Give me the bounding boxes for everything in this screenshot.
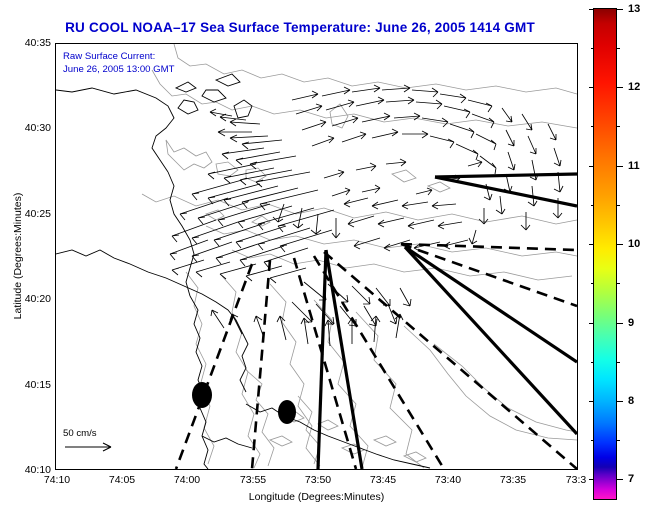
x-tick-label: 73:40 [435, 474, 461, 486]
map-vector-field [56, 44, 577, 469]
radar-station-marker [192, 382, 212, 408]
figure-title: RU COOL NOAA–17 Sea Surface Temperature:… [0, 20, 600, 35]
colorbar[interactable] [593, 8, 617, 500]
colorbar-tick-label: 10 [628, 238, 640, 250]
colorbar-tick-minor [591, 205, 594, 206]
vector-scale-label: 50 cm/s [63, 428, 123, 439]
x-tick-label: 73:55 [240, 474, 266, 486]
colorbar-tick-minor [591, 126, 594, 127]
colorbar-tick-minor [591, 440, 594, 441]
radar-coverage-solid [318, 174, 577, 469]
colorbar-tick [616, 166, 623, 167]
x-tick-label: 74:00 [174, 474, 200, 486]
colorbar-tick-minor [616, 126, 620, 127]
radar-station-marker [278, 400, 296, 424]
colorbar-tick-label: 12 [628, 81, 640, 93]
y-tick-label: 40:25 [25, 208, 51, 220]
y-tick-label: 40:20 [25, 293, 51, 305]
colorbar-tick-minor [616, 205, 620, 206]
colorbar-tick [589, 323, 594, 324]
vector-scale-arrow-icon [63, 439, 123, 455]
colorbar-tick-minor [616, 283, 620, 284]
colorbar-tick [589, 244, 594, 245]
colorbar-tick-label: 7 [628, 473, 634, 485]
colorbar-tick [589, 479, 594, 480]
y-tick-label: 40:35 [25, 37, 51, 49]
colorbar-tick-minor [616, 48, 620, 49]
x-tick-label: 73:45 [370, 474, 396, 486]
colorbar-tick [616, 401, 623, 402]
colorbar-tick-minor [616, 362, 620, 363]
radar-coverage-dashed [176, 244, 577, 469]
figure-canvas: RU COOL NOAA–17 Sea Surface Temperature:… [0, 0, 651, 515]
colorbar-tick-label: 11 [628, 160, 640, 172]
colorbar-tick [616, 323, 623, 324]
colorbar-tick [616, 244, 623, 245]
x-axis-label: Longitude (Degrees:Minutes) [55, 491, 578, 503]
colorbar-tick [616, 9, 623, 10]
colorbar-tick-minor [591, 283, 594, 284]
x-tick-label: 73:3 [566, 474, 586, 486]
colorbar-tick [589, 87, 594, 88]
colorbar-tick-label: 8 [628, 395, 634, 407]
map-clip [56, 44, 577, 469]
y-axis-label: Latitude (Degrees:Minutes) [12, 176, 24, 336]
x-tick-label: 73:35 [500, 474, 526, 486]
map-plot-area[interactable]: Raw Surface Current: June 26, 2005 13:00… [55, 43, 578, 470]
colorbar-tick-minor [616, 440, 620, 441]
y-axis-ticks: 40:35 40:30 40:25 40:20 40:15 40:10 [0, 0, 51, 515]
vector-scale-key: 50 cm/s [63, 428, 123, 460]
colorbar-tick [616, 479, 623, 480]
colorbar-tick-minor [591, 48, 594, 49]
colorbar-tick [589, 401, 594, 402]
x-tick-label: 73:50 [305, 474, 331, 486]
annotation-line-2: June 26, 2005 13:00 GMT [63, 63, 174, 76]
colorbar-tick [589, 9, 594, 10]
colorbar-tick-label: 13 [628, 3, 640, 15]
annotation-line-1: Raw Surface Current: [63, 50, 174, 63]
colorbar-tick [589, 166, 594, 167]
colorbar-tick [616, 87, 623, 88]
x-tick-label: 74:05 [109, 474, 135, 486]
colorbar-gradient [594, 9, 616, 499]
y-tick-label: 40:15 [25, 379, 51, 391]
x-axis-ticks: 74:10 74:05 74:00 73:55 73:50 73:45 73:4… [0, 474, 651, 490]
colorbar-tick-minor [591, 362, 594, 363]
current-annotation: Raw Surface Current: June 26, 2005 13:00… [63, 50, 174, 76]
x-tick-label: 74:10 [44, 474, 70, 486]
coastline [56, 74, 430, 469]
y-tick-label: 40:30 [25, 122, 51, 134]
colorbar-tick-label: 9 [628, 317, 634, 329]
